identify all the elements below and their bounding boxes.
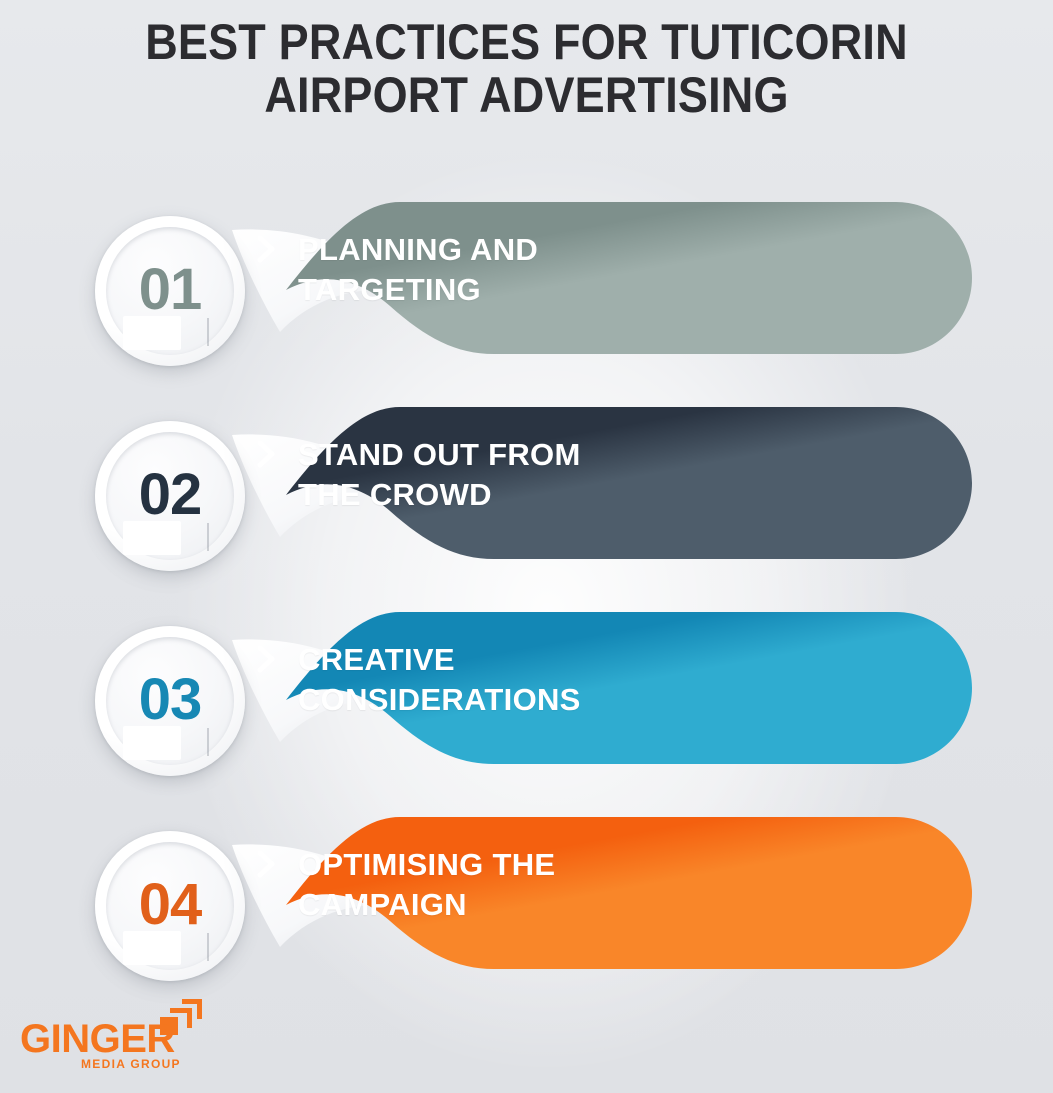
infographic-page: BEST PRACTICES FOR TUTICORIN AIRPORT ADV… [0,0,1053,1093]
step-number-badge[interactable]: 01 [95,216,245,366]
step-label: PLANNING AND TARGETING [298,230,818,311]
step-number: 02 [95,421,245,571]
step-label: STAND OUT FROM THE CROWD [298,435,818,516]
step-label: OPTIMISING THE CAMPAIGN [298,845,818,926]
logo-tagline: MEDIA GROUP [81,1057,181,1071]
page-title: BEST PRACTICES FOR TUTICORIN AIRPORT ADV… [53,16,1001,122]
brand-logo: GINGER MEDIA GROUP [20,993,260,1079]
chevron-right-icon [255,439,281,469]
step-number-badge[interactable]: 02 [95,421,245,571]
step-number-badge[interactable]: 04 [95,831,245,981]
step-label: CREATIVE CONSIDERATIONS [298,640,818,721]
step-row[interactable]: STAND OUT FROM THE CROWD 02 [0,401,1053,606]
step-row[interactable]: OPTIMISING THE CAMPAIGN 04 [0,811,1053,1016]
step-number: 04 [95,831,245,981]
step-number: 03 [95,626,245,776]
chevron-right-icon [255,849,281,879]
logo-wordmark: GINGER [20,1017,175,1062]
chevron-right-icon [255,644,281,674]
steps-list: PLANNING AND TARGETING 01 [0,196,1053,1016]
step-number-badge[interactable]: 03 [95,626,245,776]
step-row[interactable]: CREATIVE CONSIDERATIONS 03 [0,606,1053,811]
step-number: 01 [95,216,245,366]
chevron-right-icon [255,234,281,264]
step-row[interactable]: PLANNING AND TARGETING 01 [0,196,1053,401]
